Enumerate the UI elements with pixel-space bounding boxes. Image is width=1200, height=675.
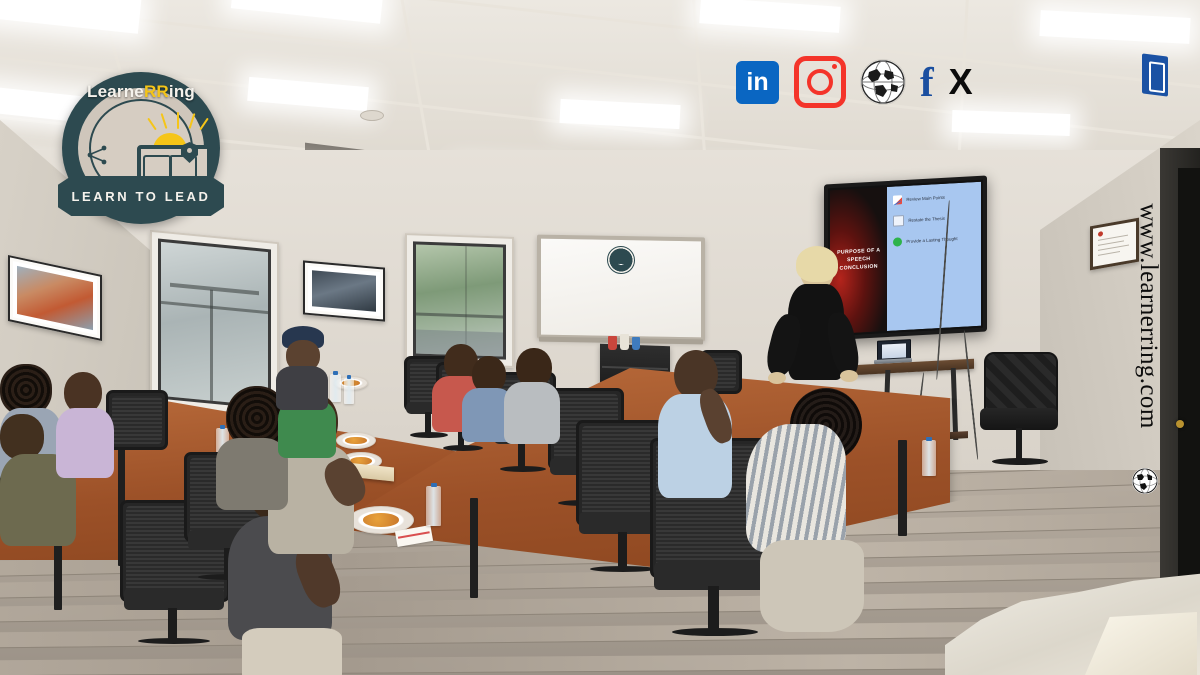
document-icon [893, 215, 904, 227]
slide-bullet: Provide a Lasting Thought [893, 233, 976, 247]
x-twitter-icon[interactable]: X [949, 64, 973, 100]
website-url-text: www.learnerring.com [1134, 164, 1162, 468]
table-leg [898, 440, 907, 536]
student-torso [504, 382, 560, 444]
cup [632, 337, 640, 350]
facebook-glyph: f [920, 62, 934, 103]
website-watermark: www.learnerring.com [1126, 172, 1170, 472]
linkedin-icon[interactable]: in [736, 61, 779, 104]
presenter-hair [796, 246, 838, 282]
website-globe-icon[interactable] [861, 60, 905, 104]
presenter-hand-right [840, 370, 858, 382]
student [740, 388, 870, 638]
student-shorts [242, 628, 342, 675]
ceiling-light [247, 77, 369, 111]
whiteboard [537, 235, 705, 342]
student-shorts [760, 540, 864, 632]
cup [620, 334, 629, 350]
door[interactable] [1178, 168, 1200, 598]
logo-banner: LEARN TO LEAD [58, 176, 224, 216]
smoke-detector-icon [360, 110, 384, 121]
ceiling-light [952, 110, 1071, 136]
logo-name-3: ing [169, 82, 195, 101]
student [276, 326, 332, 406]
student [504, 348, 566, 444]
whiteboard-logo-icon [607, 246, 635, 274]
presenter [768, 250, 858, 400]
slide-bullet: Review Main Points [893, 191, 976, 205]
ceiling-light [231, 0, 383, 24]
slide-bullet-text: Provide a Lasting Thought [906, 236, 957, 244]
water-bottle [426, 486, 441, 526]
chart-icon [893, 195, 902, 205]
logo-wordmark: LearneRRing [62, 82, 220, 102]
globe-icon [1132, 468, 1158, 494]
logo-name-1: Learne [87, 82, 144, 101]
exit-sign [1142, 53, 1168, 96]
student [56, 372, 120, 482]
student-torso [56, 408, 114, 478]
ceiling-light [699, 0, 840, 33]
osprey-aircraft-photo [303, 260, 385, 321]
social-icon-bar: in f X [736, 56, 973, 108]
slide-bullet-text: Review Main Points [906, 195, 945, 202]
classroom-photo: PURPOSE OF A SPEECH CONCLUSION Review Ma… [0, 0, 1200, 675]
instagram-icon[interactable] [794, 56, 846, 108]
door-handle-icon[interactable] [1176, 420, 1184, 428]
slide-bullet-text: Restate the Thesis [908, 216, 945, 223]
quilted-chair[interactable] [980, 352, 1058, 447]
ceiling-light [1039, 10, 1190, 44]
water-bottle [922, 440, 936, 476]
student [652, 350, 742, 520]
presenter-hand-left [768, 372, 786, 384]
slide-bullet: Restate the Thesis [893, 211, 976, 227]
ceiling-light [0, 0, 141, 34]
node-icon [86, 144, 108, 166]
x-glyph: X [949, 64, 973, 100]
laptop-keyboard [874, 358, 912, 364]
logo-tagline: LEARN TO LEAD [71, 189, 210, 204]
cup [608, 336, 617, 350]
slide-body-panel: Review Main Points Restate the Thesis Pr… [887, 182, 981, 331]
learnerring-logo: LearneRRing LEARN TO LEAD [62, 72, 220, 224]
student-torso [276, 366, 328, 410]
green-dot-icon [893, 237, 902, 247]
instagram-dot-icon [832, 64, 837, 69]
facebook-icon[interactable]: f [920, 62, 934, 103]
logo-name-2: RR [144, 82, 169, 101]
linkedin-glyph: in [736, 61, 779, 104]
laptop [874, 339, 912, 367]
student-torso [746, 424, 846, 552]
table-leg [470, 498, 478, 598]
